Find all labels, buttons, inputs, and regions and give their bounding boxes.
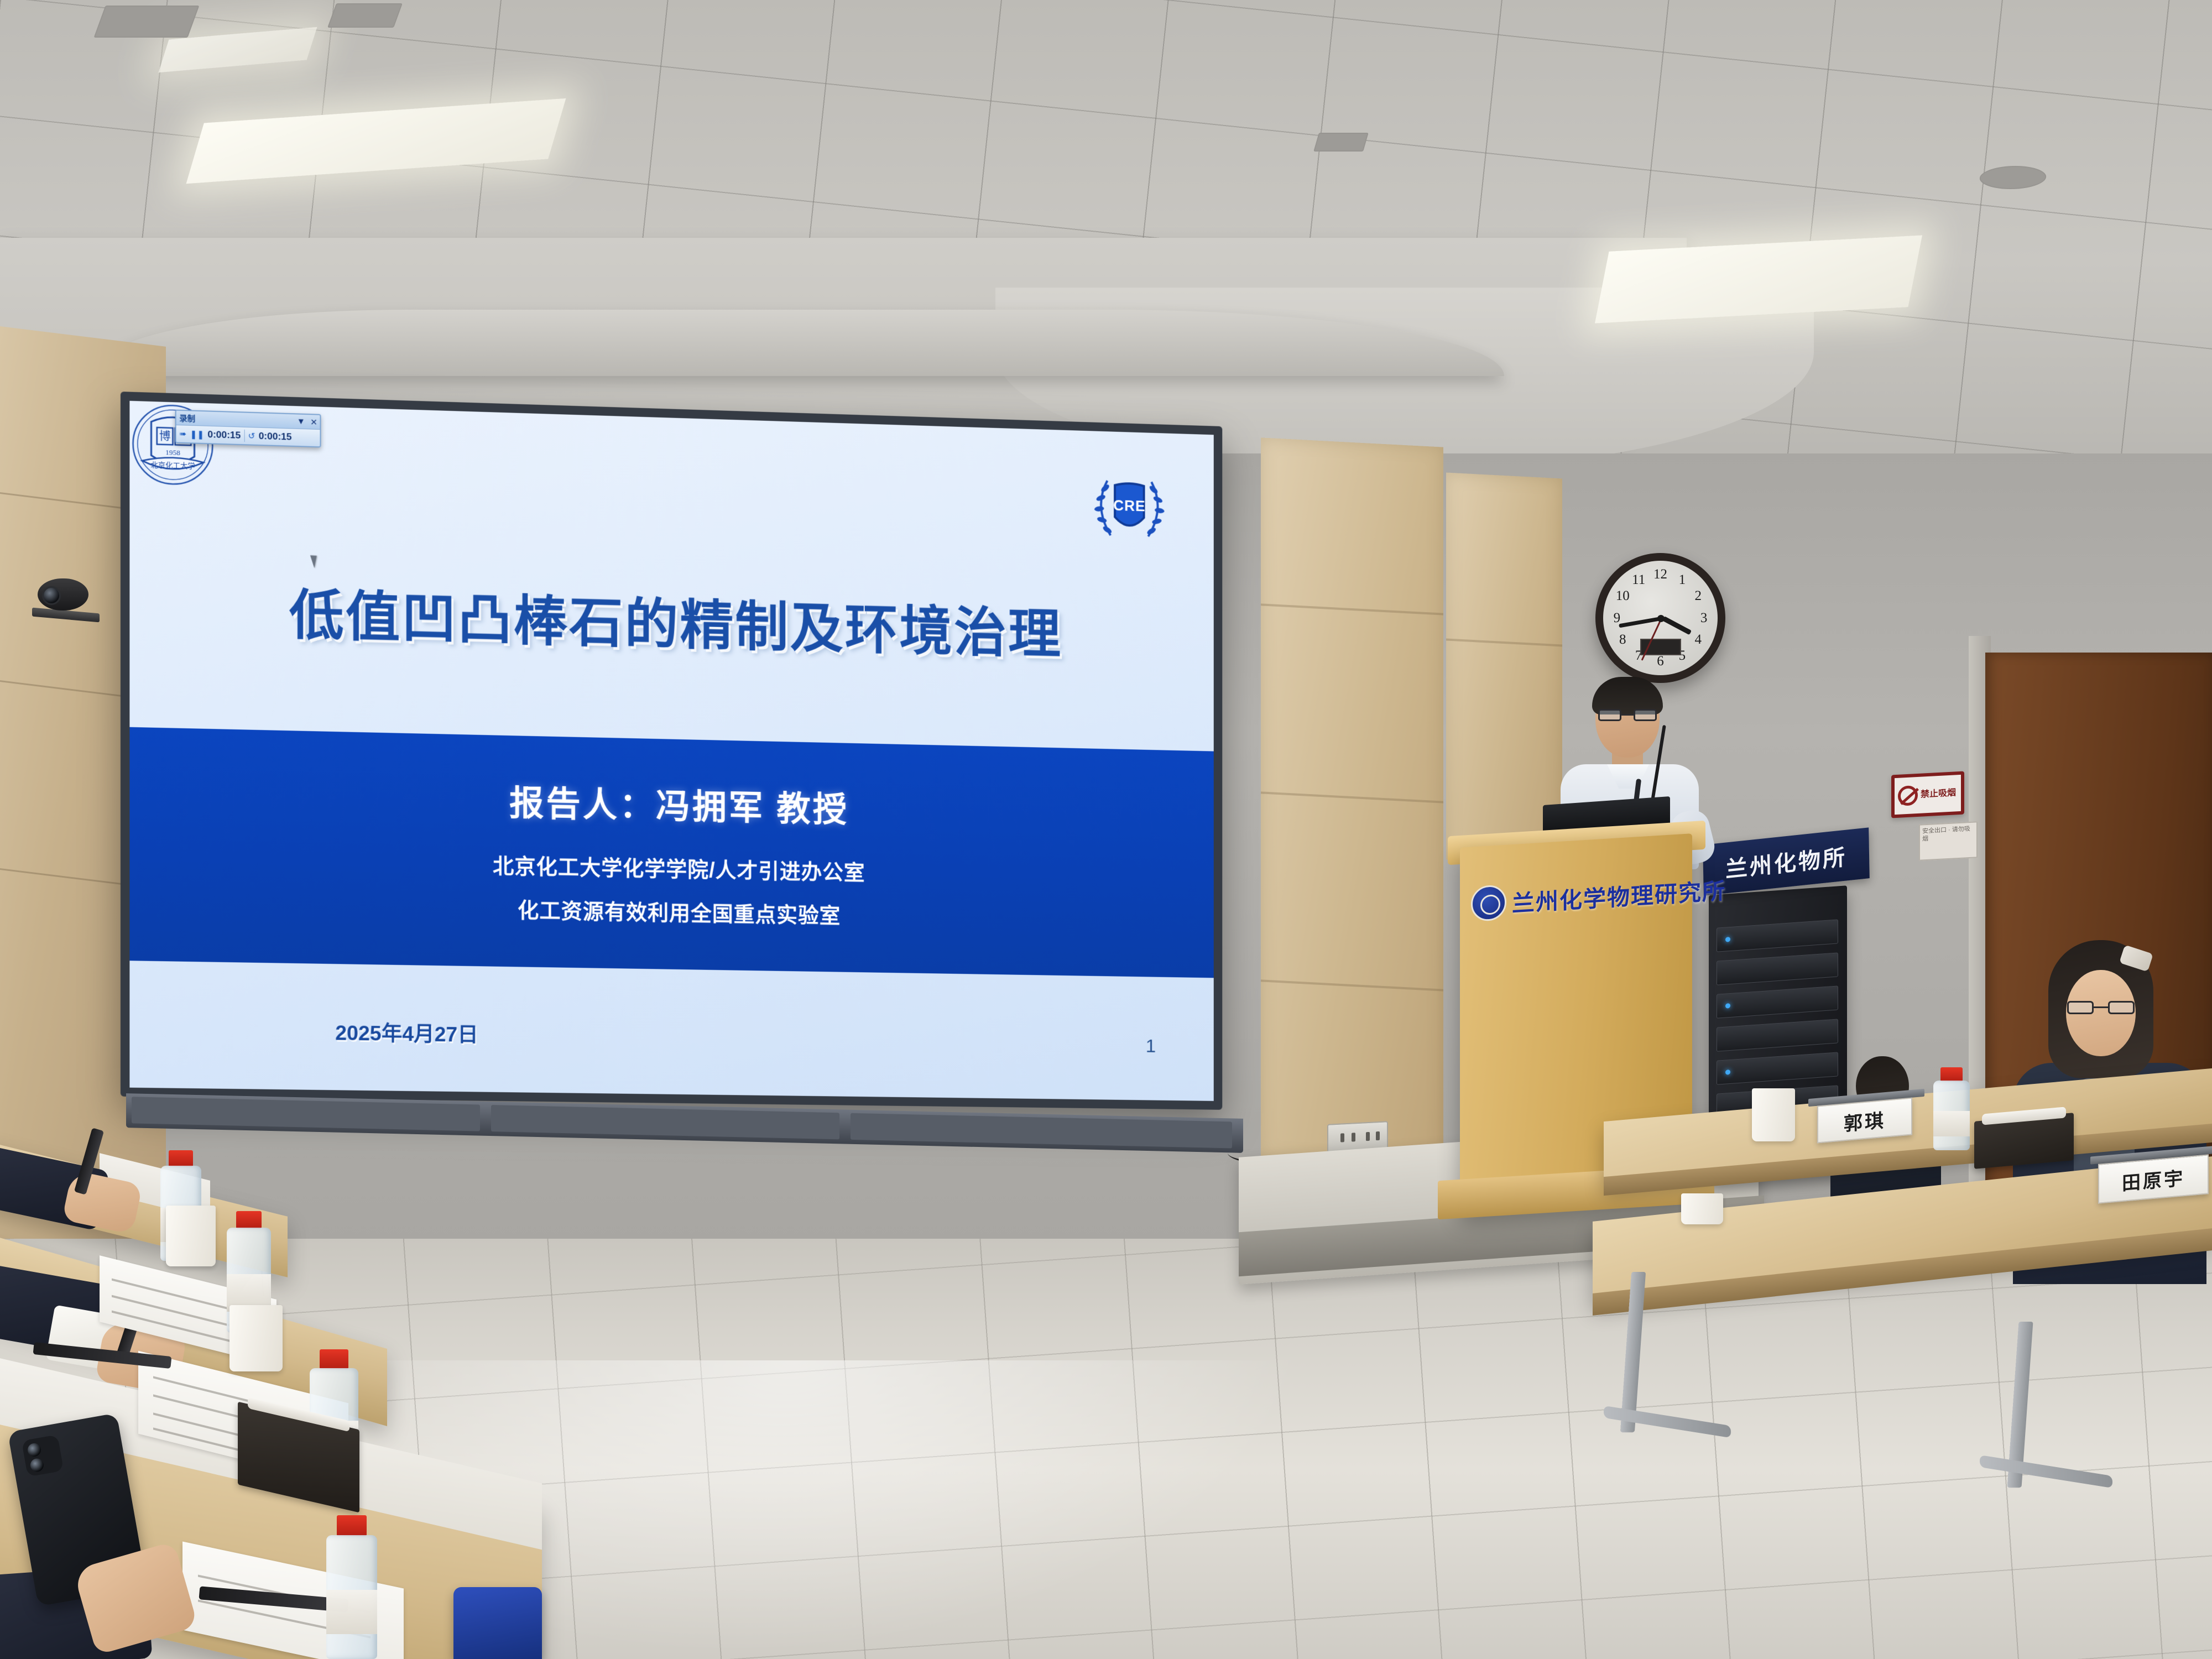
lanzhou-institute-of-chemical-physics-logo <box>1471 884 1506 922</box>
paper-cup <box>229 1305 283 1371</box>
water-bottle <box>326 1515 377 1659</box>
clock-numeral: 8 <box>1619 632 1626 648</box>
svg-text:博: 博 <box>159 429 171 443</box>
ceiling-vent <box>93 6 199 38</box>
wall-wood-column <box>1261 437 1443 1166</box>
presentation-slide: 博 宏 1958 北京化工大学 <box>129 401 1213 1101</box>
clock-numeral: 10 <box>1616 588 1630 604</box>
blue-desk-object <box>453 1587 542 1659</box>
laptop-on-table[interactable] <box>1681 1193 1723 1224</box>
recording-elapsed-time: 0:00:15 <box>207 429 241 441</box>
slide-page-number: 1 <box>1146 1035 1156 1057</box>
mouse-pointer-icon <box>310 552 324 568</box>
slide-presenter-line: 报告人：冯拥军 教授 <box>129 766 1213 838</box>
clock-center-pin <box>1657 615 1665 622</box>
ptz-camera <box>33 570 100 617</box>
clock-minute-hand <box>1619 616 1663 628</box>
no-smoking-icon <box>1898 785 1918 806</box>
paper-cup <box>166 1206 216 1266</box>
clock-numeral: 4 <box>1695 632 1702 648</box>
chevron-down-icon[interactable]: ▼ <box>297 417 305 427</box>
wall-banner-text: 兰州化物所 <box>1725 839 1848 884</box>
slide-title: 低值凹凸棒石的精制及环境治理 <box>129 566 1213 671</box>
close-icon[interactable]: ✕ <box>310 417 317 427</box>
ceiling-vent <box>327 3 403 28</box>
clock-numeral: 11 <box>1632 572 1645 588</box>
small-notice-sign: 安全出口 · 请勿吸烟 <box>1919 821 1978 861</box>
clock-hour-hand <box>1662 616 1692 635</box>
ceiling-soffit <box>100 310 1504 376</box>
slide-date: 2025年4月27日 <box>335 1016 478 1048</box>
clock-numeral: 1 <box>1679 572 1686 588</box>
paper-cup <box>1752 1088 1795 1141</box>
name-plate-text: 郭琪 <box>1844 1105 1886 1136</box>
clock-numeral: 12 <box>1653 567 1667 582</box>
no-smoking-sign: 禁止吸烟 <box>1891 771 1964 818</box>
no-smoking-label: 禁止吸烟 <box>1921 789 1956 800</box>
pause-icon[interactable]: ❚❚ <box>190 430 204 439</box>
water-bottle <box>1933 1067 1970 1150</box>
undo-arrow-icon[interactable]: ↺ <box>248 432 255 441</box>
slide-affiliation-line-1: 北京化工大学化学学院/人才引进办公室 <box>129 842 1213 893</box>
tissue-box <box>1974 1113 2074 1169</box>
clock-numeral: 2 <box>1695 588 1702 604</box>
slide-blue-band: 报告人：冯拥军 教授 北京化工大学化学学院/人才引进办公室 化工资源有效利用全国… <box>129 727 1213 978</box>
svg-text:北京化工大学: 北京化工大学 <box>150 461 195 471</box>
recording-toolbar[interactable]: 录制 ▼ ✕ ➠ ❚❚ 0:00:15 ↺ 0:00:15 <box>175 410 321 448</box>
next-arrow-icon[interactable]: ➠ <box>179 430 186 439</box>
conference-room-scene: 12 1 2 3 4 5 6 7 8 9 10 11 禁止吸烟 安全出口 · 请… <box>0 0 2212 1659</box>
clock-numeral: 3 <box>1700 611 1708 626</box>
wall-clock: 12 1 2 3 4 5 6 7 8 9 10 11 <box>1595 553 1725 683</box>
cre-laurel-shield-logo: CRE <box>1089 466 1170 550</box>
presenter-glasses <box>1598 709 1657 722</box>
svg-text:CRE: CRE <box>1113 497 1145 514</box>
recording-toolbar-title: 录制 <box>179 413 195 424</box>
recording-slide-time: 0:00:15 <box>259 431 292 443</box>
clock-numeral: 6 <box>1657 654 1664 669</box>
slide-affiliation-line-2: 化工资源有效利用全国重点实验室 <box>129 886 1213 935</box>
name-plate-text: 田原宇 <box>2122 1163 2185 1196</box>
attendee-glasses <box>2067 1001 2135 1015</box>
ceiling-sprinkler <box>1313 133 1369 152</box>
svg-text:1958: 1958 <box>165 448 180 457</box>
projection-screen[interactable]: 博 宏 1958 北京化工大学 <box>121 392 1222 1110</box>
phone-camera-module <box>22 1434 64 1477</box>
